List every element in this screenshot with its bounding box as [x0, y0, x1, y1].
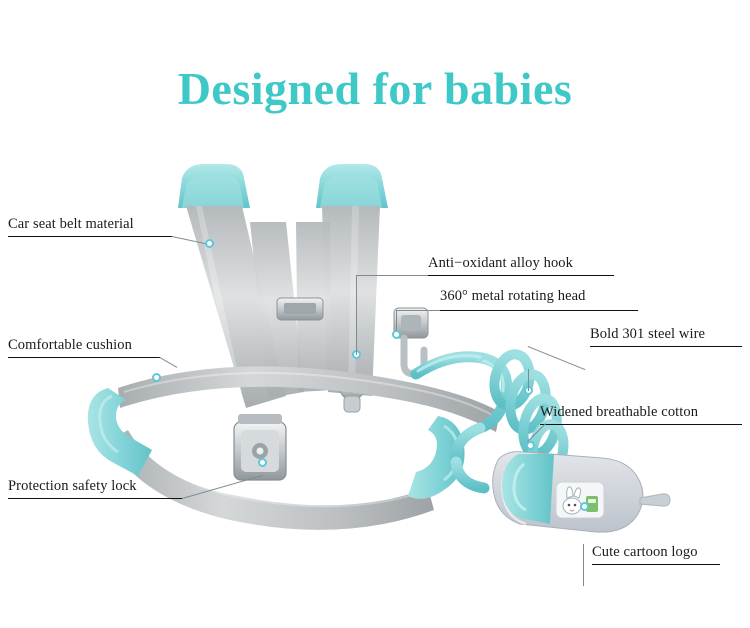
callout-metal-rotating-head-underline	[440, 310, 638, 311]
callout-cute-cartoon-logo-dot	[580, 502, 589, 511]
callout-comfortable-cushion-label: Comfortable cushion	[8, 337, 132, 354]
callout-metal-rotating-head-dot	[392, 330, 401, 339]
callout-widened-breathable-cotton-underline	[540, 424, 742, 425]
callout-widened-breathable-cotton-dot	[526, 441, 535, 450]
wrist-band	[493, 452, 670, 533]
callout-anti-oxidant-alloy-hook-leader	[356, 275, 428, 276]
callout-comfortable-cushion-dot	[152, 373, 161, 382]
safety-buckle-lock	[234, 414, 286, 480]
callout-widened-breathable-cotton-label: Widened breathable cotton	[540, 404, 698, 421]
shoulder-pad-left	[178, 164, 250, 208]
callout-metal-rotating-head-text: 360° metal rotating head	[440, 288, 586, 304]
callout-car-seat-belt-material-label: Car seat belt material	[8, 216, 134, 233]
callout-cute-cartoon-logo-label: Cute cartoon logo	[592, 544, 698, 561]
callout-protection-safety-lock-underline	[8, 498, 182, 499]
callout-anti-oxidant-alloy-hook-label: Anti−oxidant alloy hook	[428, 255, 573, 272]
product-infographic: Designed for babies	[0, 0, 750, 628]
callout-car-seat-belt-material-underline	[8, 236, 172, 237]
callout-metal-rotating-head-label: 360° metal rotating head	[440, 288, 586, 305]
callout-cute-cartoon-logo-leader	[583, 544, 584, 586]
callout-car-seat-belt-material-dot	[205, 239, 214, 248]
callout-cute-cartoon-logo-underline	[592, 564, 720, 565]
callout-metal-rotating-head-leader	[396, 310, 440, 311]
callout-bold-301-steel-wire-leader-down	[528, 369, 529, 391]
callout-anti-oxidant-alloy-hook-leader-vertical	[356, 275, 357, 355]
callout-comfortable-cushion-underline	[8, 357, 160, 358]
callout-protection-safety-lock-dot	[258, 458, 267, 467]
page-title: Designed for babies	[0, 62, 750, 115]
strap-adjuster	[277, 298, 323, 320]
callout-bold-301-steel-wire-label: Bold 301 steel wire	[590, 326, 705, 343]
callout-protection-safety-lock-label: Protection safety lock	[8, 478, 137, 495]
shoulder-pad-right	[316, 164, 388, 208]
callout-anti-oxidant-alloy-hook-underline	[428, 275, 614, 276]
callout-bold-301-steel-wire-underline	[590, 346, 742, 347]
